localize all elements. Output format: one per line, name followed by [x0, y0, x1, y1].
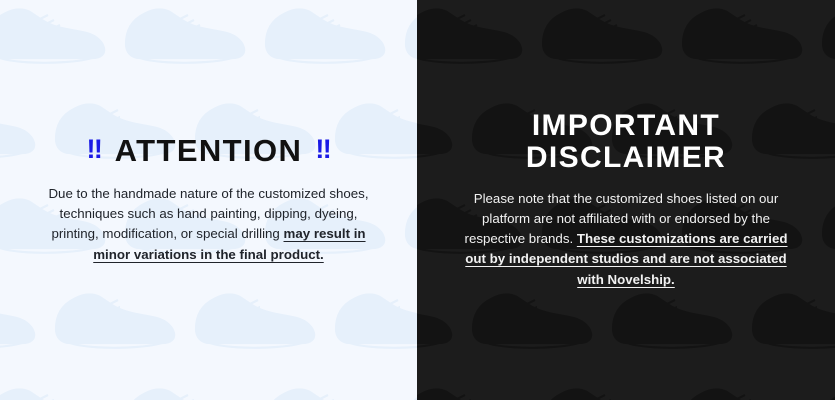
attention-content: ‼ ATTENTION ‼ Due to the handmade nature…: [0, 0, 417, 400]
disclaimer-heading-line-1: IMPORTANT: [526, 110, 726, 142]
attention-heading-label: ATTENTION: [115, 135, 303, 167]
double-exclamation-icon-left: ‼: [86, 136, 101, 164]
double-exclamation-icon-right: ‼: [315, 136, 330, 164]
disclaimer-heading-line-2: DISCLAIMER: [526, 142, 726, 174]
disclaimer-panel: IMPORTANT DISCLAIMER Please note that th…: [417, 0, 835, 400]
disclaimer-content: IMPORTANT DISCLAIMER Please note that th…: [417, 0, 835, 400]
attention-body: Due to the handmade nature of the custom…: [46, 184, 371, 265]
disclaimer-heading: IMPORTANT DISCLAIMER: [526, 110, 726, 174]
attention-heading: ‼ ATTENTION ‼: [86, 135, 330, 167]
disclaimer-banner: ‼ ATTENTION ‼ Due to the handmade nature…: [0, 0, 835, 400]
disclaimer-body: Please note that the customized shoes li…: [463, 189, 789, 290]
attention-panel: ‼ ATTENTION ‼ Due to the handmade nature…: [0, 0, 417, 400]
